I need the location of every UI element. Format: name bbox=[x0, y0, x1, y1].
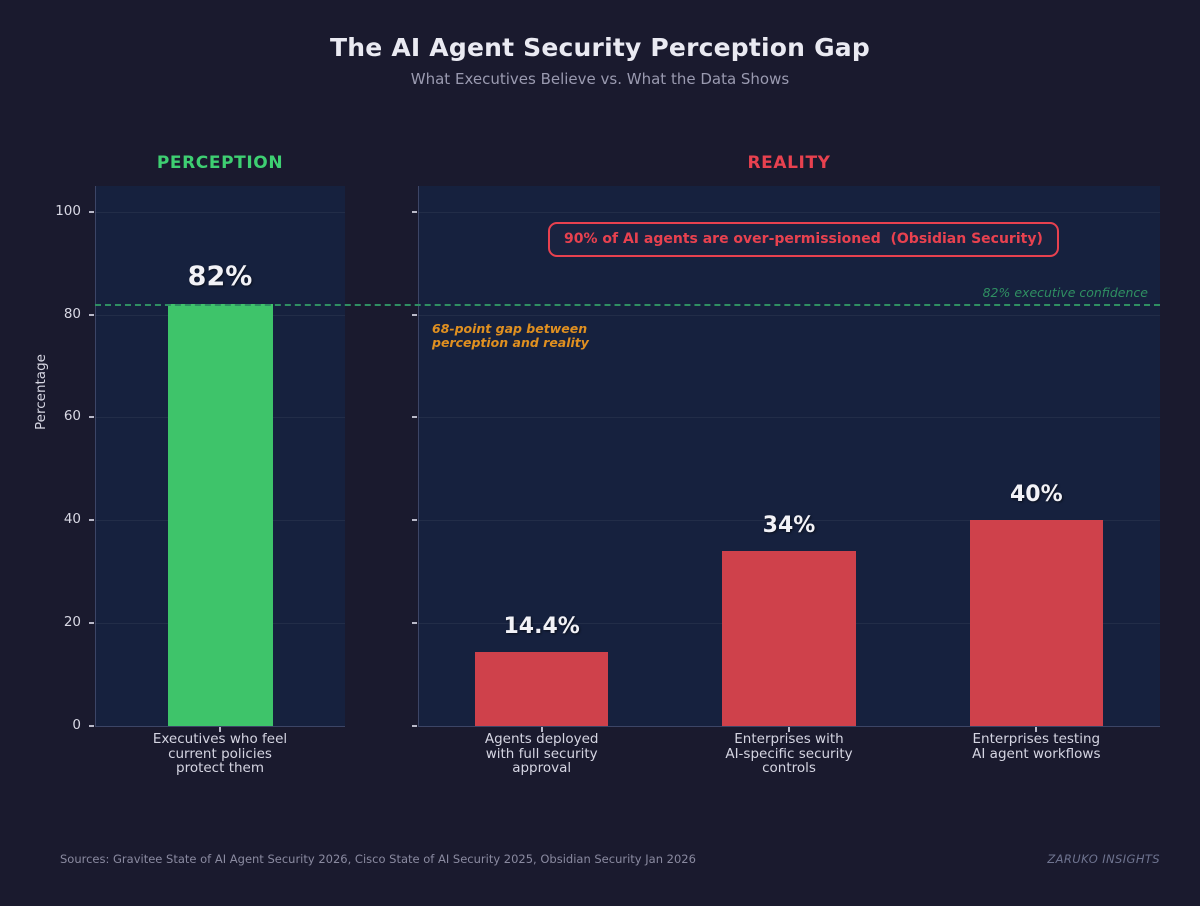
y-axis-tick bbox=[89, 519, 94, 521]
gridline bbox=[95, 212, 345, 213]
x-axis-tick-label: Enterprises testing AI agent workflows bbox=[926, 732, 1146, 761]
callout-over-permissioned: 90% of AI agents are over-permissioned (… bbox=[548, 222, 1059, 257]
bar[interactable] bbox=[168, 304, 273, 726]
bar-value-label: 14.4% bbox=[462, 614, 622, 639]
y-axis-tick-label: 40 bbox=[37, 511, 81, 527]
bar-value-label: 82% bbox=[140, 261, 300, 292]
y-axis-tick-label: 0 bbox=[37, 717, 81, 733]
y-axis-spine-left bbox=[95, 186, 96, 726]
gridline bbox=[418, 212, 1160, 213]
y-axis-tick bbox=[89, 725, 94, 727]
y-axis-tick-label: 100 bbox=[37, 203, 81, 219]
bar[interactable] bbox=[970, 520, 1104, 726]
y-axis-title: Percentage bbox=[33, 332, 49, 452]
sources-note: Sources: Gravitee State of AI Agent Secu… bbox=[60, 852, 696, 866]
x-axis-tick-label: Agents deployed with full security appro… bbox=[432, 732, 652, 776]
y-axis-spine-right bbox=[418, 186, 419, 726]
brand-watermark: ZARUKO INSIGHTS bbox=[1047, 852, 1160, 866]
y-axis-tick bbox=[89, 211, 94, 213]
y-axis-tick bbox=[412, 519, 417, 521]
y-axis-tick bbox=[412, 725, 417, 727]
bar[interactable] bbox=[475, 652, 609, 726]
y-axis-tick-label: 20 bbox=[37, 614, 81, 630]
gridline bbox=[418, 417, 1160, 418]
chart-canvas: The AI Agent Security Perception Gap Wha… bbox=[0, 0, 1200, 906]
page-subtitle: What Executives Believe vs. What the Dat… bbox=[0, 70, 1200, 88]
x-axis-tick-label: Executives who feel current policies pro… bbox=[110, 732, 330, 776]
y-axis-tick bbox=[412, 416, 417, 418]
reference-line-label: 82% executive confidence bbox=[900, 285, 1148, 300]
bar-value-label: 34% bbox=[709, 513, 869, 538]
y-axis-tick bbox=[89, 622, 94, 624]
y-axis-tick bbox=[89, 314, 94, 316]
gridline bbox=[418, 315, 1160, 316]
x-axis-tick-label: Enterprises with AI-specific security co… bbox=[679, 732, 899, 776]
y-axis-tick bbox=[412, 622, 417, 624]
y-axis-tick bbox=[412, 211, 417, 213]
y-axis-tick bbox=[89, 416, 94, 418]
gap-annotation: 68-point gap between perception and real… bbox=[432, 322, 662, 350]
bar-value-label: 40% bbox=[956, 482, 1116, 507]
page-title: The AI Agent Security Perception Gap bbox=[0, 33, 1200, 62]
panel-header-perception: PERCEPTION bbox=[95, 153, 345, 173]
y-axis-tick-label: 80 bbox=[37, 306, 81, 322]
panel-header-reality: REALITY bbox=[418, 153, 1160, 173]
reference-line-82 bbox=[95, 304, 1160, 306]
y-axis-tick bbox=[412, 314, 417, 316]
bar[interactable] bbox=[722, 551, 856, 726]
